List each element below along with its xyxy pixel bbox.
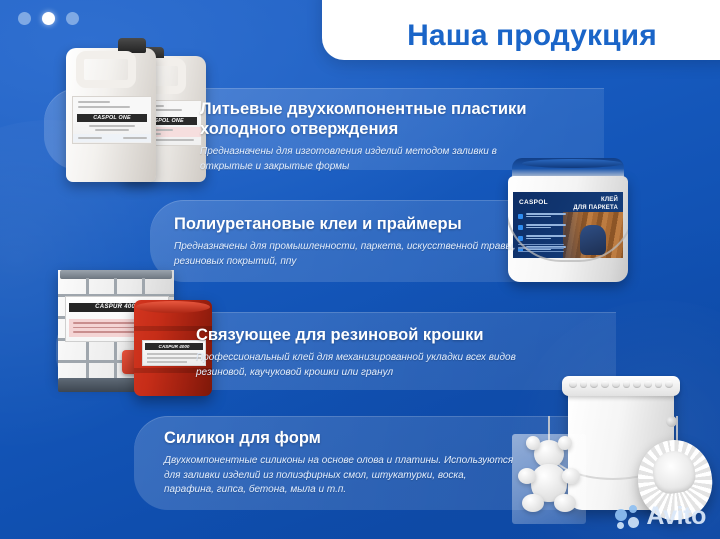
pail-ear	[666, 416, 677, 427]
bear-arm-right	[562, 468, 580, 484]
bucket-title-line1: КЛЕЙ	[573, 197, 618, 205]
pail-lid-crimp	[566, 380, 676, 388]
product-showcase-banner: Наша продукция CASPOL ONE	[0, 0, 720, 539]
product-description-4: Двухкомпонентные силиконы на основе олов…	[164, 454, 514, 498]
teddy-bear-mold	[512, 434, 586, 524]
product-description-2: Предназначены для промышленности, паркет…	[174, 240, 524, 269]
bear-ear-left	[526, 436, 540, 450]
window-dot-2	[42, 12, 55, 25]
window-dot-1	[18, 12, 31, 25]
product-text-4: Силикон для форм Двухкомпонентные силико…	[164, 428, 514, 498]
canister-handle-front	[76, 51, 136, 88]
product-text-2: Полиуретановые клеи и праймеры Предназна…	[174, 214, 524, 269]
product-title-1: Литьевые двухкомпонентные пластики холод…	[200, 99, 530, 139]
window-dot-3	[66, 12, 79, 25]
product-description-1: Предназначены для изготовления изделий м…	[200, 145, 530, 174]
barrel-top	[136, 301, 210, 313]
product-description-3: Профессиональный клей для механизированн…	[196, 351, 536, 380]
bear-leg-left	[522, 494, 544, 512]
bucket-brand-text: CASPOL	[519, 199, 548, 206]
product-text-3: Связующее для резиновой крошки Профессио…	[196, 325, 536, 380]
bucket-body: CASPOL КЛЕЙ ДЛЯ ПАРКЕТА	[508, 176, 628, 282]
window-dots	[18, 12, 79, 25]
avito-logo-icon	[615, 505, 641, 529]
bear-leg-right	[554, 494, 576, 512]
product-title-2: Полиуретановые клеи и праймеры	[174, 214, 524, 234]
canister-brand-front: CASPOL ONE	[77, 114, 147, 122]
page-title: Наша продукция	[407, 21, 657, 51]
bucket-lid-top	[522, 159, 622, 168]
avito-watermark: Avito	[615, 504, 706, 529]
title-plate: Наша продукция	[322, 0, 720, 60]
parquet-glue-bucket-illustration: CASPOL КЛЕЙ ДЛЯ ПАРКЕТА	[508, 158, 628, 282]
barrel-brand: CASPUR 4000	[145, 343, 203, 350]
bear-arm-left	[518, 468, 536, 484]
product-title-4: Силикон для форм	[164, 428, 514, 448]
canister-label-front: CASPOL ONE	[72, 96, 152, 144]
canister-front: CASPOL ONE	[66, 48, 156, 182]
bear-ear-right	[558, 436, 572, 450]
bucket-brand: CASPOL	[519, 199, 548, 206]
product-title-3: Связующее для резиновой крошки	[196, 325, 536, 345]
ibc-tote-illustration: CASPUR 4000 CASPUR 4000	[58, 264, 218, 396]
avito-wordmark: Avito	[646, 504, 706, 529]
product-text-1: Литьевые двухкомпонентные пластики холод…	[200, 99, 530, 174]
